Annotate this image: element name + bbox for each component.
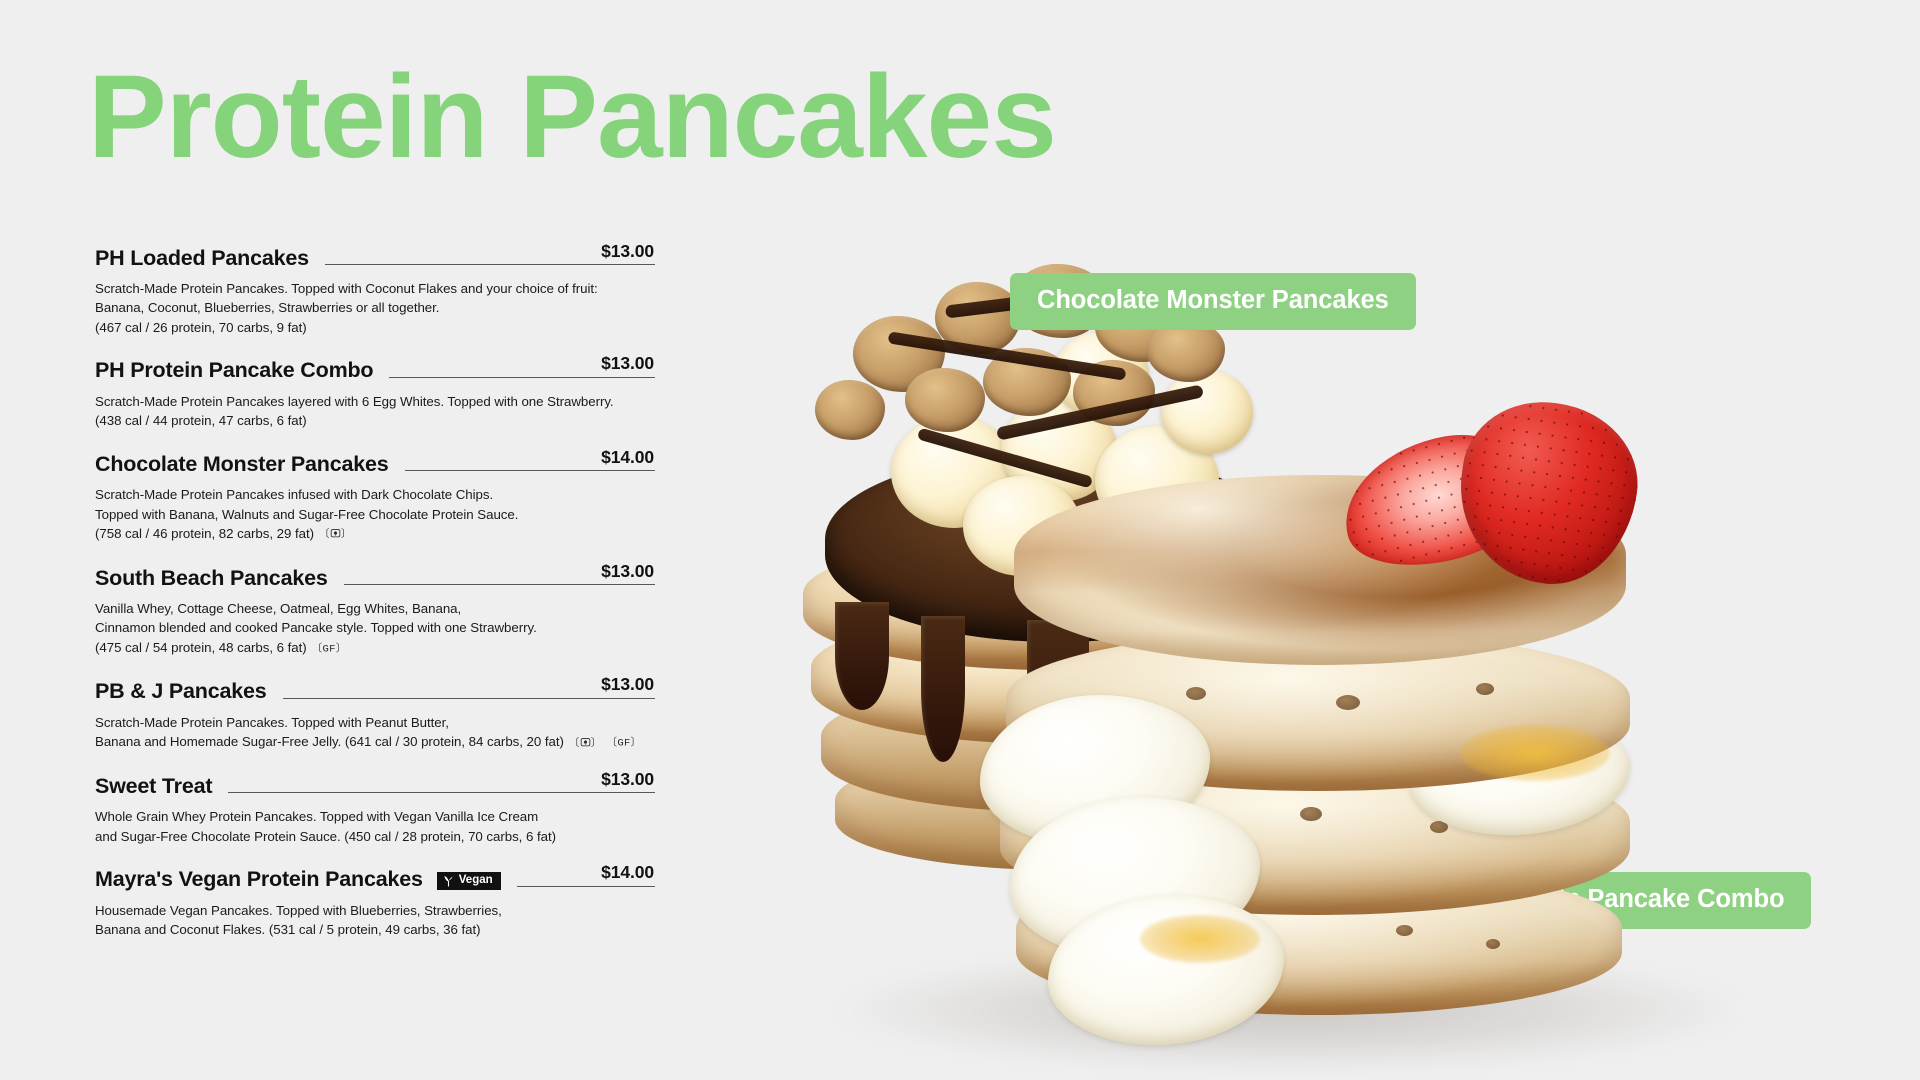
menu-item-name: PH Protein Pancake Combo xyxy=(95,360,373,383)
pancake-hole xyxy=(1486,939,1500,949)
description-line: Scratch-Made Protein Pancakes. Topped wi… xyxy=(95,713,655,732)
description-text: (467 cal / 26 protein, 70 carbs, 9 fat) xyxy=(95,320,307,335)
description-text: Scratch-Made Protein Pancakes. Topped wi… xyxy=(95,281,598,296)
menu-board: Protein Pancakes xyxy=(0,0,1920,1080)
gluten-free-tag: 〔GF〕 xyxy=(312,642,347,657)
price-leader-line xyxy=(517,886,655,887)
menu-item-header: Sweet Treat$13.00 xyxy=(95,771,655,798)
walnut-piece xyxy=(905,368,985,432)
menu-item-price: $13.00 xyxy=(595,771,654,789)
menu-item-name: Chocolate Monster Pancakes xyxy=(95,454,389,477)
menu-item: Chocolate Monster Pancakes$14.00Scratch-… xyxy=(95,449,655,544)
description-line: (467 cal / 26 protein, 70 carbs, 9 fat) xyxy=(95,318,655,337)
description-line: Banana, Coconut, Blueberries, Strawberri… xyxy=(95,298,655,317)
description-text: Banana and Coconut Flakes. (531 cal / 5 … xyxy=(95,922,481,937)
price-leader-line xyxy=(283,698,656,699)
chocolate-drip xyxy=(921,616,965,762)
menu-item-description: Housemade Vegan Pancakes. Topped with Bl… xyxy=(95,901,655,940)
menu-item-header: PH Loaded Pancakes$13.00 xyxy=(95,243,655,270)
egg-yolk-wisp xyxy=(1140,915,1260,963)
description-text: Scratch-Made Protein Pancakes infused wi… xyxy=(95,487,493,502)
description-line: (758 cal / 46 protein, 82 carbs, 29 fat)… xyxy=(95,524,655,544)
description-line: and Sugar-Free Chocolate Protein Sauce. … xyxy=(95,827,655,846)
menu-item-header: Chocolate Monster Pancakes$14.00 xyxy=(95,449,655,476)
description-text: Whole Grain Whey Protein Pancakes. Toppe… xyxy=(95,809,538,824)
vegan-badge-label: Vegan xyxy=(459,875,493,887)
pancake-hole xyxy=(1300,807,1322,821)
menu-item-description: Vanilla Whey, Cottage Cheese, Oatmeal, E… xyxy=(95,599,655,658)
description-text: Housemade Vegan Pancakes. Topped with Bl… xyxy=(95,903,502,918)
description-line: Housemade Vegan Pancakes. Topped with Bl… xyxy=(95,901,655,920)
menu-item-description: Scratch-Made Protein Pancakes. Topped wi… xyxy=(95,713,655,752)
walnut-piece xyxy=(815,380,885,440)
description-line: Banana and Coconut Flakes. (531 cal / 5 … xyxy=(95,920,655,939)
menu-item-price: $13.00 xyxy=(595,355,654,373)
menu-item-price: $13.00 xyxy=(595,243,654,261)
menu-item-name: PB & J Pancakes xyxy=(95,681,267,704)
description-line: Vanilla Whey, Cottage Cheese, Oatmeal, E… xyxy=(95,599,655,618)
description-text: Scratch-Made Protein Pancakes. Topped wi… xyxy=(95,715,449,730)
menu-item: Sweet Treat$13.00Whole Grain Whey Protei… xyxy=(95,771,655,846)
menu-item-name: PH Loaded Pancakes xyxy=(95,248,309,271)
menu-item-name: Mayra's Vegan Protein Pancakes xyxy=(95,869,423,892)
protein-combo-stack xyxy=(990,395,1670,1075)
menu-item: PH Loaded Pancakes$13.00Scratch-Made Pro… xyxy=(95,243,655,337)
description-line: Cinnamon blended and cooked Pancake styl… xyxy=(95,618,655,637)
leaf-icon xyxy=(443,875,454,887)
description-text: (475 cal / 54 protein, 48 carbs, 6 fat) xyxy=(95,640,307,655)
description-text: and Sugar-Free Chocolate Protein Sauce. … xyxy=(95,829,556,844)
photo-tag-chocolate-monster[interactable]: Chocolate Monster Pancakes xyxy=(1010,273,1416,330)
page-title: Protein Pancakes xyxy=(88,58,1056,176)
description-text: Scratch-Made Protein Pancakes layered wi… xyxy=(95,394,614,409)
pancake-hole xyxy=(1396,925,1413,936)
gluten-free-tag: 〔GF〕 xyxy=(607,737,642,752)
pancakes-photo: Chocolate Monster Pancakes PH Protein Pa… xyxy=(690,190,1920,1080)
description-line: (475 cal / 54 protein, 48 carbs, 6 fat)〔… xyxy=(95,638,655,658)
price-leader-line xyxy=(228,792,655,793)
price-leader-line xyxy=(405,470,655,471)
description-line: Scratch-Made Protein Pancakes infused wi… xyxy=(95,485,655,504)
pancake-hole xyxy=(1186,687,1206,700)
description-line: Whole Grain Whey Protein Pancakes. Toppe… xyxy=(95,807,655,826)
menu-item-description: Whole Grain Whey Protein Pancakes. Toppe… xyxy=(95,807,655,846)
description-line: Banana and Homemade Sugar-Free Jelly. (6… xyxy=(95,732,655,752)
description-text: Cinnamon blended and cooked Pancake styl… xyxy=(95,620,537,635)
description-text: Topped with Banana, Walnuts and Sugar-Fr… xyxy=(95,507,518,522)
menu-list: PH Loaded Pancakes$13.00Scratch-Made Pro… xyxy=(95,243,655,939)
description-text: Vanilla Whey, Cottage Cheese, Oatmeal, E… xyxy=(95,601,461,616)
egg-yolk-wisp xyxy=(1460,725,1610,781)
pancake-hole xyxy=(1476,683,1494,695)
description-line: (438 cal / 44 protein, 47 carbs, 6 fat) xyxy=(95,411,655,430)
menu-item-price: $14.00 xyxy=(595,864,654,882)
diet-tag-set: 〔〕〔GF〕 xyxy=(564,734,641,749)
pancake-hole xyxy=(1336,695,1360,710)
description-line: Topped with Banana, Walnuts and Sugar-Fr… xyxy=(95,505,655,524)
menu-item-header: South Beach Pancakes$13.00 xyxy=(95,563,655,590)
vegetarian-tag: 〔〕 xyxy=(569,736,602,752)
vegetarian-tag: 〔〕 xyxy=(319,528,352,544)
menu-item: South Beach Pancakes$13.00Vanilla Whey, … xyxy=(95,563,655,658)
menu-item-description: Scratch-Made Protein Pancakes layered wi… xyxy=(95,392,655,431)
diet-tag-set: 〔GF〕 xyxy=(307,640,347,655)
price-leader-line xyxy=(389,377,655,378)
gluten-free-label: GF xyxy=(617,738,630,750)
gluten-free-label: GF xyxy=(322,643,335,655)
menu-item-price: $14.00 xyxy=(595,449,654,467)
menu-item-price: $13.00 xyxy=(595,676,654,694)
chocolate-drip xyxy=(835,602,889,710)
menu-item-header: Mayra's Vegan Protein PancakesVegan$14.0… xyxy=(95,865,655,892)
menu-item-description: Scratch-Made Protein Pancakes. Topped wi… xyxy=(95,279,655,337)
menu-item-name: South Beach Pancakes xyxy=(95,568,328,591)
diet-tag-set: 〔〕 xyxy=(314,526,352,541)
photo-tag-label: Chocolate Monster Pancakes xyxy=(1037,286,1389,315)
menu-item-header: PB & J Pancakes$13.00 xyxy=(95,677,655,704)
price-leader-line xyxy=(344,584,655,585)
description-line: Scratch-Made Protein Pancakes layered wi… xyxy=(95,392,655,411)
description-text: (758 cal / 46 protein, 82 carbs, 29 fat) xyxy=(95,526,314,541)
vegan-badge: Vegan xyxy=(437,872,501,890)
menu-item: Mayra's Vegan Protein PancakesVegan$14.0… xyxy=(95,865,655,940)
description-text: Banana, Coconut, Blueberries, Strawberri… xyxy=(95,300,439,315)
menu-item-price: $13.00 xyxy=(595,563,654,581)
menu-item-description: Scratch-Made Protein Pancakes infused wi… xyxy=(95,485,655,544)
description-line: Scratch-Made Protein Pancakes. Topped wi… xyxy=(95,279,655,298)
description-text: Banana and Homemade Sugar-Free Jelly. (6… xyxy=(95,734,564,749)
menu-item-header: PH Protein Pancake Combo$13.00 xyxy=(95,356,655,383)
menu-item: PH Protein Pancake Combo$13.00Scratch-Ma… xyxy=(95,356,655,431)
description-text: (438 cal / 44 protein, 47 carbs, 6 fat) xyxy=(95,413,307,428)
price-leader-line xyxy=(325,264,655,265)
menu-item-name: Sweet Treat xyxy=(95,776,212,799)
menu-item: PB & J Pancakes$13.00Scratch-Made Protei… xyxy=(95,677,655,752)
